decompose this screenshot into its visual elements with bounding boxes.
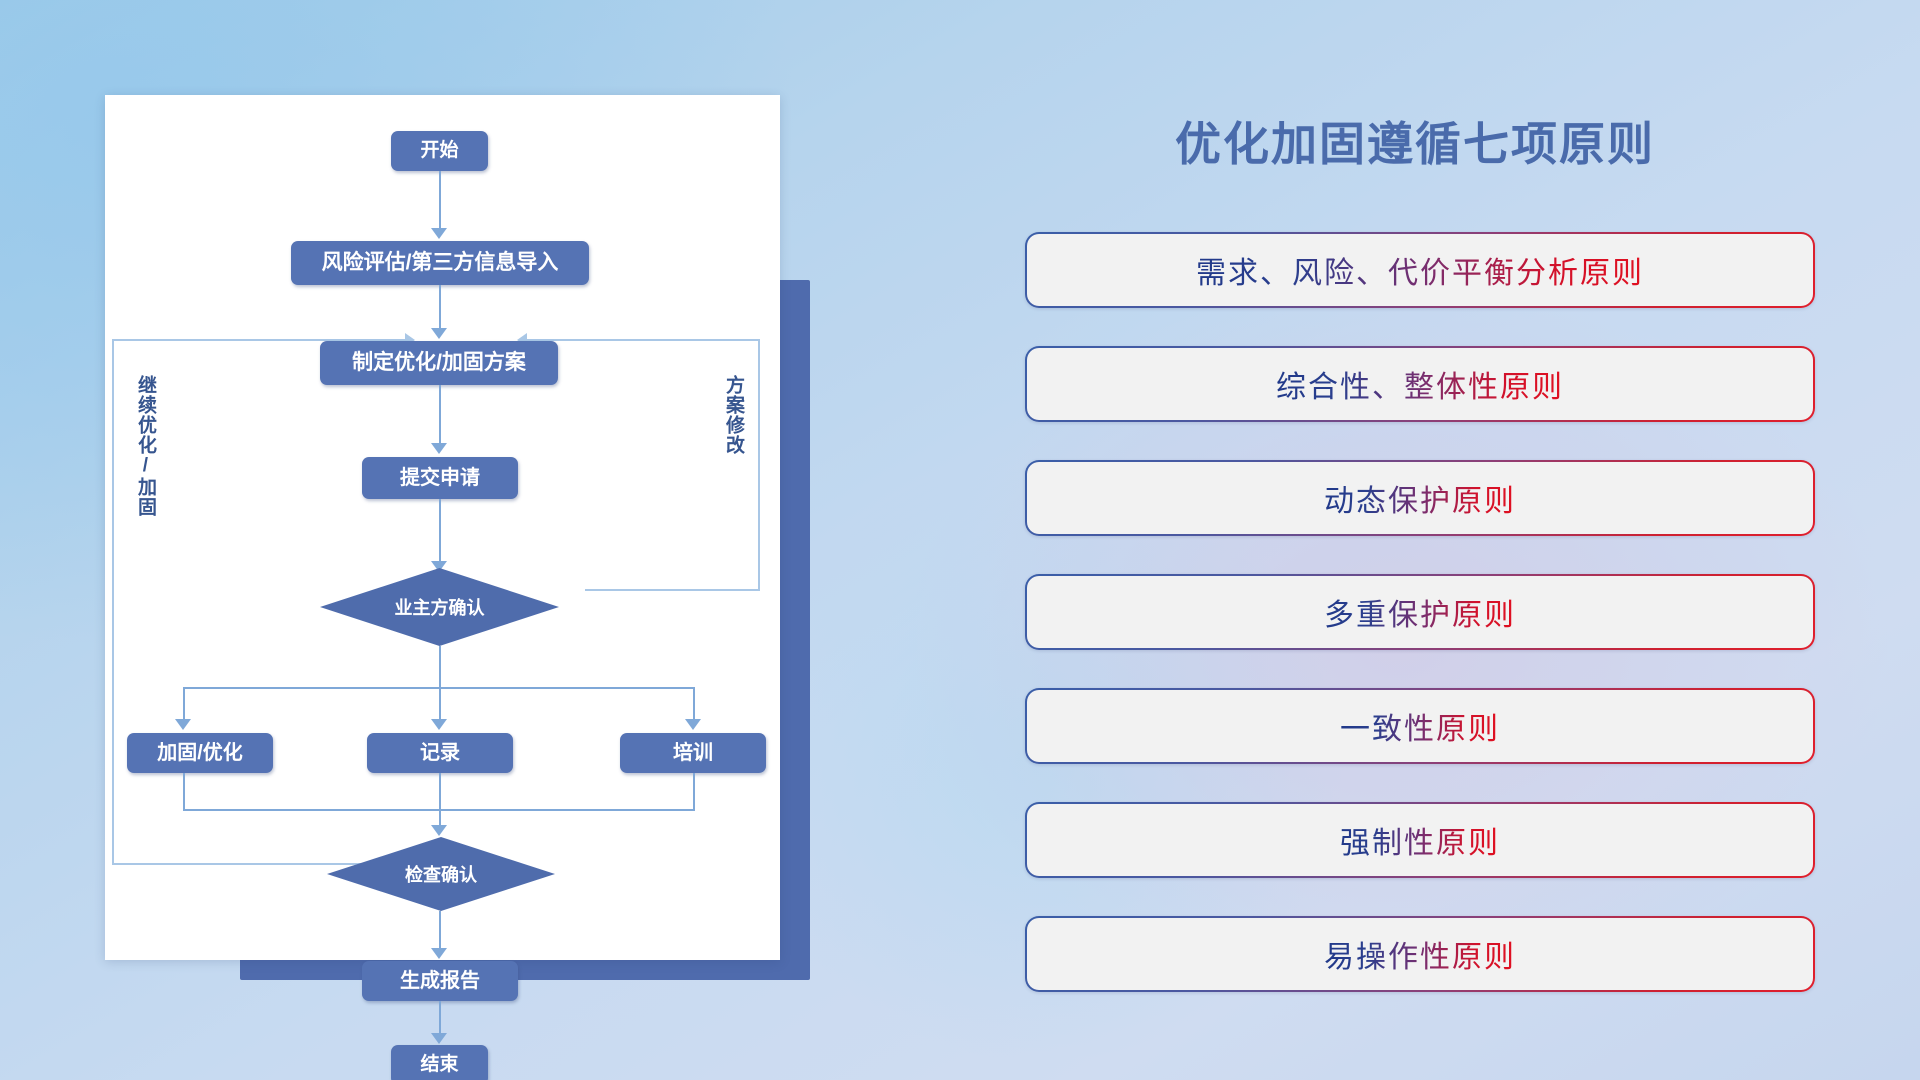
edge-left-loop-vertical [112,339,114,865]
edge-fanin-right-riser [693,773,695,811]
edge-fanout-mid-arrowhead-icon [431,719,447,730]
principle-label: 动态保护原则 [1324,476,1516,520]
principles-panel: 优化加固遵循七项原则 需求、风险、代价平衡分析原则 综合性、整体性原则 动态保护… [1020,0,1920,1080]
edge-start-to-risk-arrowhead-icon [431,228,447,239]
list-item[interactable]: 强制性原则 [1025,802,1815,878]
principle-label: 一致性原则 [1340,704,1500,748]
list-item[interactable]: 多重保护原则 [1025,574,1815,650]
flow-node-submit-label: 提交申请 [400,467,480,489]
flow-decision-check-confirm-label: 检查确认 [405,861,477,887]
edge-fanout-left-arrowhead-icon [175,719,191,730]
flow-decision-check-confirm[interactable]: 检查确认 [327,837,555,911]
flow-node-reinforce-label: 加固/优化 [157,742,243,764]
flow-node-reinforce[interactable]: 加固/优化 [127,733,273,773]
edge-fanout-left-drop [183,687,185,723]
flow-node-plan-label: 制定优化/加固方案 [352,351,526,374]
principle-label: 多重保护原则 [1324,590,1516,634]
edge-risk-to-plan [439,285,441,333]
edge-right-loop-top [525,339,760,341]
edge-fanout-mid-drop [439,687,441,723]
edge-plan-to-submit-arrowhead-icon [431,443,447,454]
list-item[interactable]: 动态保护原则 [1025,460,1815,536]
list-item[interactable]: 综合性、整体性原则 [1025,346,1815,422]
flow-node-start-label: 开始 [420,141,458,162]
principle-pill-inner: 动态保护原则 [1027,462,1813,534]
list-item[interactable]: 需求、风险、代价平衡分析原则 [1025,232,1815,308]
edge-submit-to-owner-confirm [439,499,441,567]
edge-right-loop-bottom [585,589,760,591]
list-item[interactable]: 一致性原则 [1025,688,1815,764]
flow-node-training[interactable]: 培训 [620,733,766,773]
edge-fanin-arrowhead-icon [431,825,447,836]
flowchart-card: 继续优化/加固 方案修改 开始 风险评估/第三方信息导入 制定优化/加固方案 [105,95,780,960]
flow-node-plan[interactable]: 制定优化/加固方案 [320,341,558,385]
flow-decision-owner-confirm-label: 业主方确认 [395,594,485,620]
edge-risk-to-plan-arrowhead-icon [431,328,447,339]
edge-owner-confirm-down [439,646,441,688]
edge-label-left-loop: 继续优化/加固 [135,375,155,517]
list-item[interactable]: 易操作性原则 [1025,916,1815,992]
edge-label-right-loop: 方案修改 [723,375,743,455]
flow-node-report-label: 生成报告 [400,970,480,992]
principle-pill-inner: 多重保护原则 [1027,576,1813,648]
flow-node-risk-assessment[interactable]: 风险评估/第三方信息导入 [291,241,589,285]
flow-node-end-label: 结束 [420,1055,458,1076]
slide-canvas: 继续优化/加固 方案修改 开始 风险评估/第三方信息导入 制定优化/加固方案 [0,0,1920,1080]
edge-fanout-right-arrowhead-icon [685,719,701,730]
edge-report-to-end-arrowhead-icon [431,1033,447,1044]
principle-label: 易操作性原则 [1324,932,1516,976]
principle-label: 需求、风险、代价平衡分析原则 [1196,248,1644,292]
flow-decision-owner-confirm[interactable]: 业主方确认 [320,568,559,646]
edge-check-to-report [439,911,441,953]
flow-node-training-label: 培训 [673,742,713,764]
edge-fanin-mid-drop [439,773,441,829]
edge-plan-to-submit [439,385,441,447]
principle-pill-inner: 一致性原则 [1027,690,1813,762]
flow-node-start[interactable]: 开始 [391,131,488,171]
principles-list: 需求、风险、代价平衡分析原则 综合性、整体性原则 动态保护原则 多重保护原则 [1025,232,1815,1030]
flow-node-record-label: 记录 [420,742,460,764]
principle-label: 强制性原则 [1340,818,1500,862]
principle-pill-inner: 需求、风险、代价平衡分析原则 [1027,234,1813,306]
edge-right-loop-vertical [758,339,760,591]
page-title: 优化加固遵循七项原则 [1020,108,1810,174]
edge-fanout-right-drop [693,687,695,723]
flow-node-report[interactable]: 生成报告 [362,961,518,1001]
principle-label: 综合性、整体性原则 [1276,362,1564,406]
edge-check-to-report-arrowhead-icon [431,948,447,959]
principle-pill-inner: 易操作性原则 [1027,918,1813,990]
principle-pill-inner: 强制性原则 [1027,804,1813,876]
edge-start-to-risk [439,171,441,231]
edge-fanin-left-riser [183,773,185,811]
flow-node-end[interactable]: 结束 [391,1045,488,1080]
flow-node-record[interactable]: 记录 [367,733,513,773]
flowchart-diagram: 继续优化/加固 方案修改 开始 风险评估/第三方信息导入 制定优化/加固方案 [105,95,780,960]
principle-pill-inner: 综合性、整体性原则 [1027,348,1813,420]
flow-node-risk-assessment-label: 风险评估/第三方信息导入 [322,251,559,274]
flow-node-submit[interactable]: 提交申请 [362,457,518,499]
